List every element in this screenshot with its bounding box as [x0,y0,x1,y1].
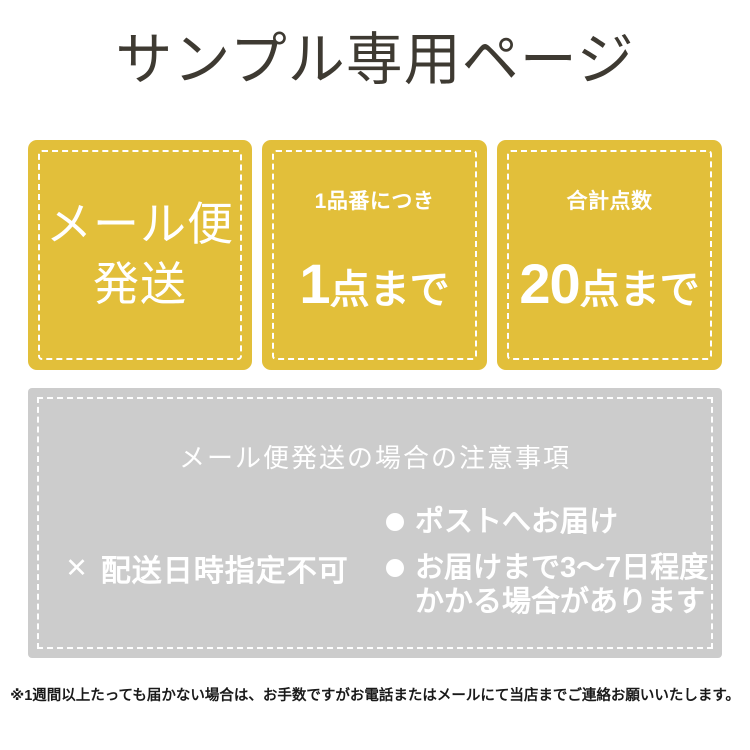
page-title: サンプル専用ページ [0,28,750,94]
footnote-text: ※1週間以上たっても届かない場合は、お手数ですがお電話またはメールにて当店までご… [0,684,750,705]
card-shipping-method-content: メール便 発送 [28,195,252,315]
list-item: お届けまで3〜7日程度 かかる場合があります [386,551,722,619]
cross-icon: ✕ [65,555,89,582]
total-limit-unit: 点まで [580,270,700,310]
card-per-item-limit-content: 1品番につき 1 点まで [262,199,487,312]
shipping-method-line-1: メール便 [28,195,252,255]
card-shipping-method: メール便 発送 [28,140,252,370]
notice-panel: メール便発送の場合の注意事項 ✕ 配送日時指定不可 ポストへお届け お届けまで3… [28,388,722,658]
feature-cards-row: メール便 発送 1品番につき 1 点まで 合計点数 20 点まで [28,140,722,370]
no-date-designation: ✕ 配送日時指定不可 [65,546,349,590]
per-item-limit-value: 1 点まで [262,256,487,312]
per-item-limit-unit: 点まで [330,270,450,310]
per-item-limit-number: 1 [299,256,329,312]
card-per-item-limit: 1品番につき 1 点まで [262,140,487,370]
notice-restriction: ✕ 配送日時指定不可 [28,503,386,633]
notice-body: ✕ 配送日時指定不可 ポストへお届け お届けまで3〜7日程度 かかる場合がありま… [28,503,722,633]
notice-bullet-list: ポストへお届け お届けまで3〜7日程度 かかる場合があります [386,503,722,620]
card-total-limit-content: 合計点数 20 点まで [497,199,722,312]
bullet-text: ポストへお届け [415,505,618,539]
notice-heading: メール便発送の場合の注意事項 [28,438,722,475]
bullet-dot-icon [386,513,404,531]
total-limit-number: 20 [519,256,579,312]
bullet-text: お届けまで3〜7日程度 かかる場合があります [415,551,708,619]
total-limit-caption: 合計点数 [497,191,722,212]
list-item: ポストへお届け [386,505,722,539]
bullet-dot-icon [386,559,404,577]
total-limit-value: 20 点まで [497,256,722,312]
shipping-method-line-2: 発送 [28,255,252,315]
card-total-limit: 合計点数 20 点まで [497,140,722,370]
no-date-designation-label: 配送日時指定不可 [101,546,349,590]
per-item-limit-caption: 1品番につき [262,191,487,212]
